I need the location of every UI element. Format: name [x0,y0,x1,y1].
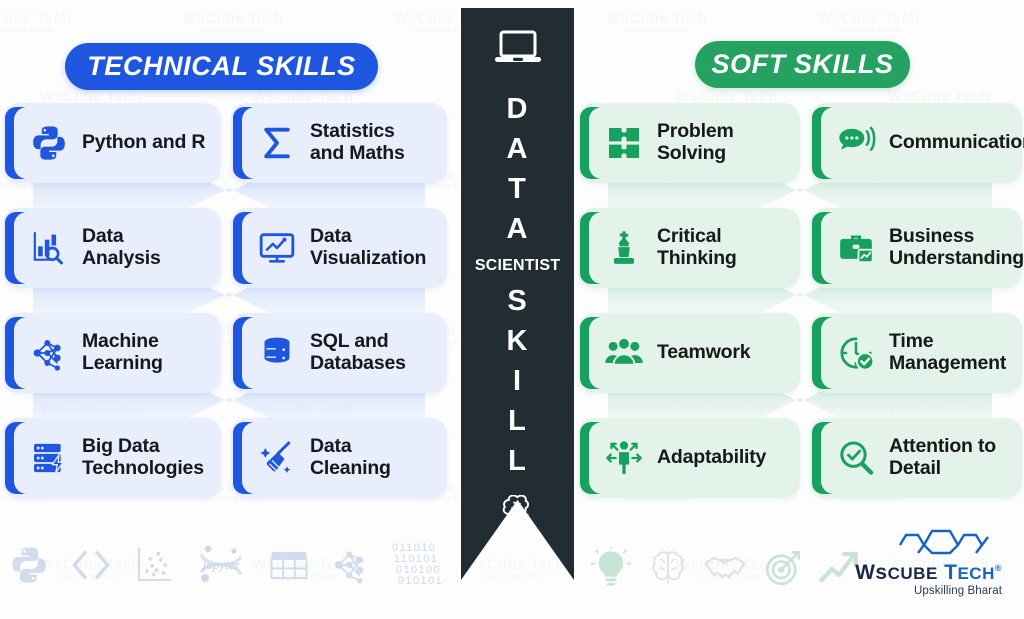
logo-t: T [944,561,957,584]
skill-card-label: DataCleaning [310,436,391,480]
wscube-tech-logo: WsCUBE TECH® Upskilling Bharat [855,526,1002,597]
card-accent-bar [580,212,600,284]
skill-card[interactable]: Communication [810,103,1022,183]
banner-letter: L [508,401,527,441]
target-icon [762,547,804,594]
skill-card-label: CriticalThinking [657,226,737,270]
skill-card-label-line2: Technologies [82,457,204,479]
banner-word-data: DATA [507,89,529,249]
skill-card-label: MachineLearning [82,331,163,375]
skill-card-label-line2: Solving [657,142,726,164]
handshake-icon [703,546,747,595]
skill-card-label: BusinessUnderstanding [889,226,1024,270]
server-bolt-icon [27,436,71,480]
card-accent-bar [812,317,832,389]
skill-card[interactable]: CriticalThinking [578,208,800,288]
skill-card-label: Communication [889,132,1024,154]
card-accent-bar [812,422,832,494]
banner-letter: S [507,281,527,321]
banner-letter: T [508,169,527,209]
logo-ech: ECH [957,564,994,583]
hexagon-molecule-icon [855,526,1002,561]
banner-letter: A [507,129,529,169]
skill-card[interactable]: Adaptability [578,418,800,498]
skill-card[interactable]: DataCleaning [231,418,447,498]
technical-skills-column: Python and RStatisticsand MathsDataAnaly… [3,103,455,498]
skill-card-label: SQL andDatabases [310,331,406,375]
person-arrows-icon [602,436,646,480]
skill-card[interactable]: BusinessUnderstanding [810,208,1022,288]
lightbulb-icon [590,547,632,594]
skill-card-label-line2: Thinking [657,247,737,269]
logo-wordmark: WsCUBE TECH® [855,562,1002,583]
svg-text:jupyter: jupyter [201,557,241,572]
chess-piece-icon [602,226,646,270]
watermark-text: WsCube TechUpskilling Bharat [0,10,71,34]
briefcase-chart-icon [834,226,878,270]
banner-letter: K [507,321,529,361]
logo-registered: ® [995,563,1002,573]
card-accent-bar [5,422,25,494]
brain-icon [647,547,689,594]
watermark-text: WsCube TechUpskilling Bharat [464,556,565,580]
people-group-icon [602,331,646,375]
python-icon [27,121,71,165]
skill-card-label: TimeManagement [889,331,1006,375]
skill-card-label-line2: Analysis [82,247,161,269]
neural-network-icon [27,331,71,375]
scatter-plot-icon [132,544,174,591]
skill-card-label: Statisticsand Maths [310,121,405,165]
skill-card[interactable]: Teamwork [578,313,800,393]
soft-skills-header-label: SOFT SKILLS [711,49,893,80]
skill-card-label: Attention toDetail [889,436,996,480]
skill-row: CriticalThinkingBusinessUnderstanding [578,208,1022,288]
skill-card[interactable]: Attention toDetail [810,418,1022,498]
skill-row: MachineLearningSQL andDatabases [3,313,455,393]
skill-card[interactable]: Statisticsand Maths [231,103,447,183]
laptop-icon [495,30,541,69]
skill-card[interactable]: DataVisualization [231,208,447,288]
card-accent-bar [812,212,832,284]
brain-icon [501,495,535,528]
card-accent-bar [580,317,600,389]
card-accent-bar [812,107,832,179]
logo-ws: Ws [855,561,888,584]
bar-chart-magnifier-icon [27,226,71,270]
card-accent-bar [5,317,25,389]
monitor-line-chart-icon [255,226,299,270]
technical-skills-header: TECHNICAL SKILLS [65,43,378,90]
binary-digits-icon: 011010110101010100910101 [392,540,448,595]
python-icon [8,544,50,591]
logo-cube: CUBE [888,564,938,583]
skill-card-label-line2: Learning [82,352,163,374]
clock-check-icon [834,331,878,375]
skill-row: ProblemSolvingCommunication [578,103,1022,183]
watermark-text: WsCube TechUpskilling Bharat [606,10,707,34]
skill-row: TeamworkTimeManagement [578,313,1022,393]
banner-letter: D [507,89,529,129]
skill-card[interactable]: ProblemSolving [578,103,800,183]
card-accent-bar [5,107,25,179]
database-icon [255,331,299,375]
banner-word-skill: SKILL [507,281,529,481]
skill-row: Python and RStatisticsand Maths [3,103,455,183]
banner-scientist-label: SCIENTIST [475,257,560,275]
skill-card[interactable]: Big DataTechnologies [3,418,221,498]
spreadsheet-table-icon [268,544,310,591]
magnifier-check-icon [834,436,878,480]
watermark-text: WsCube TechUpskilling Bharat [182,10,283,34]
skill-card[interactable]: Python and R [3,103,221,183]
soft-skills-header: SOFT SKILLS [695,41,910,88]
speech-bubble-icon [834,121,878,165]
skill-card-label: Teamwork [657,342,750,364]
skill-card[interactable]: TimeManagement [810,313,1022,393]
skill-row: DataAnalysisDataVisualization [3,208,455,288]
skill-card-label-line2: Detail [889,457,941,479]
card-accent-bar [580,422,600,494]
banner-letter: I [513,361,522,401]
skill-card-label: Adaptability [657,447,766,469]
skill-card[interactable]: DataAnalysis [3,208,221,288]
banner-letter: L [508,441,527,481]
skill-card-label-line2: and Maths [310,142,405,164]
skill-card-label: ProblemSolving [657,121,734,165]
skill-card-label: Big DataTechnologies [82,436,204,480]
skill-card-label-line2: Management [889,352,1006,374]
skill-card-label: Python and R [82,132,205,154]
skill-row: Big DataTechnologiesDataCleaning [3,418,455,498]
svg-text:910101: 910101 [398,575,443,587]
logo-tagline: Upskilling Bharat [855,585,1002,597]
soft-skills-column: ProblemSolvingCommunicationCriticalThink… [578,103,1022,498]
skill-card-label-line2: Visualization [310,247,426,269]
card-accent-bar [233,317,253,389]
sigma-icon [255,121,299,165]
skill-card-label-line2: Understanding [889,247,1024,269]
skill-card-label: DataAnalysis [82,226,161,270]
puzzle-icon [602,121,646,165]
jupyter-icon: jupyter [194,542,248,593]
card-accent-bar [580,107,600,179]
banner-letter: A [507,209,529,249]
card-accent-bar [233,212,253,284]
growth-arrow-icon [818,547,860,594]
skill-card-label-line2: Databases [310,352,406,374]
technical-skills-header-label: TECHNICAL SKILLS [87,51,356,82]
infographic-root: WsCube TechUpskilling BharatWsCube TechU… [0,0,1024,619]
skill-row: AdaptabilityAttention toDetail [578,418,1022,498]
skill-card[interactable]: MachineLearning [3,313,221,393]
card-accent-bar [233,422,253,494]
neural-network-icon [330,544,372,591]
watermark-text: WsCube TechUpskilling Bharat [818,10,919,34]
skill-card[interactable]: SQL andDatabases [231,313,447,393]
broom-icon [255,436,299,480]
skill-card-label-line2: Cleaning [310,457,391,479]
technical-footer-icons: jupyter011010110101010100910101 [8,540,448,595]
code-brackets-icon [70,544,112,591]
soft-footer-icons [590,546,860,595]
card-accent-bar [5,212,25,284]
center-banner: DATA SCIENTIST SKILL [461,8,574,580]
card-accent-bar [233,107,253,179]
skill-card-label: DataVisualization [310,226,426,270]
